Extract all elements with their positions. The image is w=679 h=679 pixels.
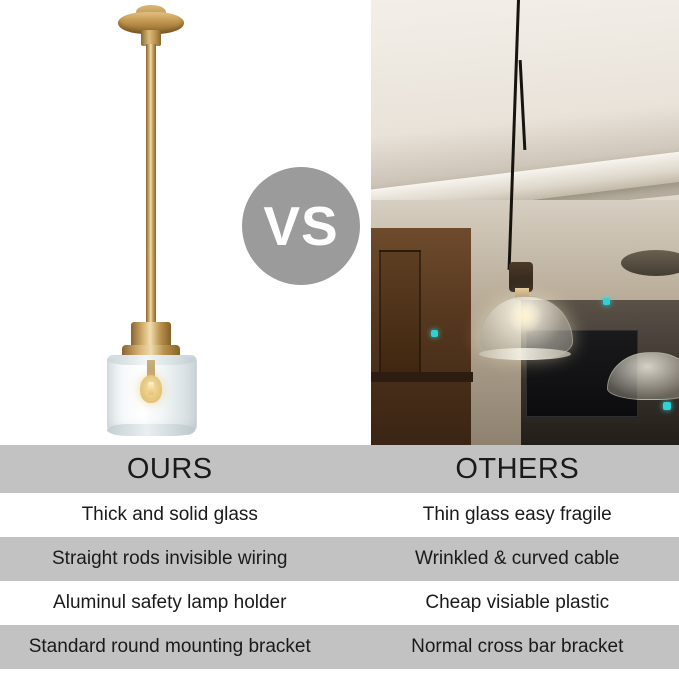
straight-rod bbox=[146, 44, 156, 326]
ours-feature-1: Thick and solid glass bbox=[0, 504, 344, 527]
comparison-infographic: VS OURS OTHERS Thick and solid glass Thi… bbox=[0, 0, 679, 679]
vs-badge-label: VS bbox=[263, 199, 338, 254]
others-feature-4: Normal cross bar bracket bbox=[344, 636, 679, 659]
table-row: Straight rods invisible wiring Wrinkled … bbox=[0, 537, 679, 581]
ours-feature-4: Standard round mounting bracket bbox=[0, 636, 344, 659]
table-row: Aluminul safety lamp holder Cheap visiab… bbox=[0, 581, 679, 625]
header-ours: OURS bbox=[0, 452, 344, 487]
teal-light-1 bbox=[431, 330, 438, 337]
others-feature-2: Wrinkled & curved cable bbox=[344, 548, 679, 571]
others-product-photo bbox=[371, 0, 679, 445]
vs-badge: VS bbox=[242, 167, 360, 285]
bulb-filament bbox=[148, 382, 154, 395]
others-feature-3: Cheap visiable plastic bbox=[344, 592, 679, 615]
table-header-row: OURS OTHERS bbox=[0, 445, 679, 493]
dome-shade-edge bbox=[479, 348, 571, 360]
table-row: Standard round mounting bracket Normal c… bbox=[0, 625, 679, 669]
photo-area: VS bbox=[0, 0, 679, 445]
glass-shade-bottom bbox=[107, 424, 195, 436]
ours-feature-3: Aluminul safety lamp holder bbox=[0, 592, 344, 615]
others-feature-1: Thin glass easy fragile bbox=[344, 504, 679, 527]
comparison-table: OURS OTHERS Thick and solid glass Thin g… bbox=[0, 445, 679, 679]
ours-feature-2: Straight rods invisible wiring bbox=[0, 548, 344, 571]
header-others: OTHERS bbox=[344, 452, 679, 487]
table-row: Thick and solid glass Thin glass easy fr… bbox=[0, 493, 679, 537]
cabinet-door bbox=[379, 250, 421, 374]
counter-top bbox=[371, 372, 473, 382]
pendant-bulb-glow bbox=[507, 300, 543, 334]
teal-light-3 bbox=[663, 402, 671, 410]
teal-light-2 bbox=[603, 298, 610, 305]
